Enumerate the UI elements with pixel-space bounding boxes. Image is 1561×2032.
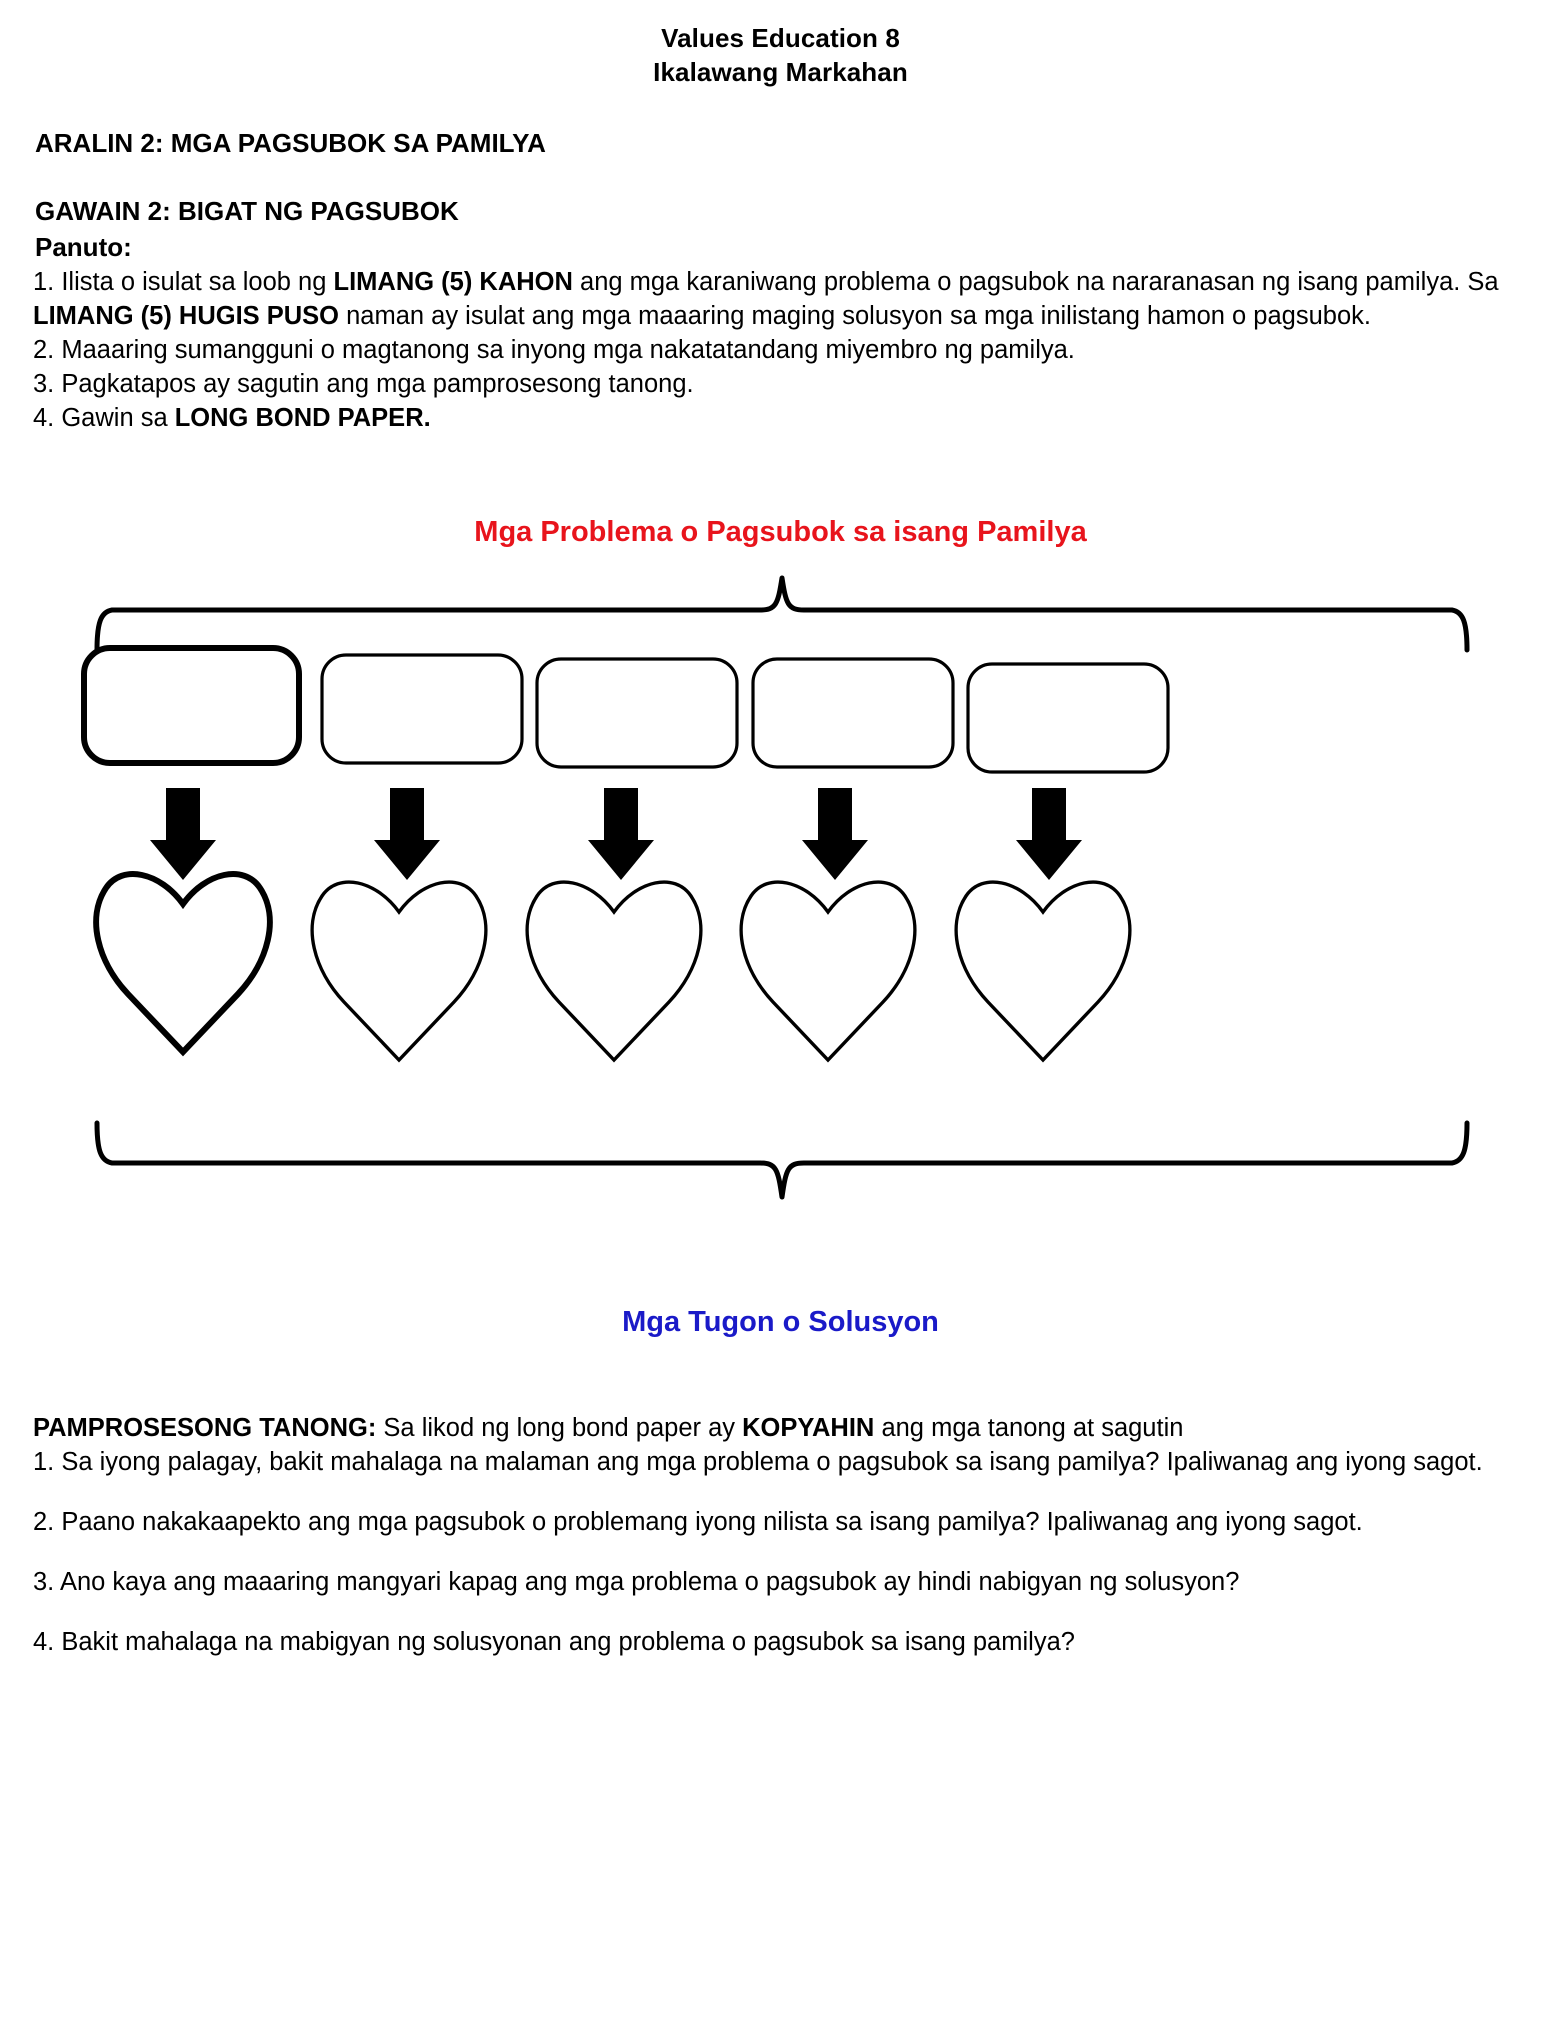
question-4: 4. Bakit mahalaga na mabigyan ng solusyo… (33, 1626, 1538, 1660)
instruction-1-part-a: 1. Ilista o isulat sa loob ng (33, 268, 334, 296)
top-brace (97, 578, 1467, 650)
instruction-item-2: 2. Maaaring sumangguni o magtanong sa in… (33, 334, 1533, 368)
processing-label-bold: PAMPROSESONG TANONG: (33, 1414, 376, 1442)
quarter-title: Ikalawang Markahan (0, 56, 1561, 90)
graphic-organizer: Mga Problema o Pagsubok sa isang Pamilya (0, 500, 1561, 1360)
instruction-1-part-b: ang mga karaniwang problema o pagsubok n… (573, 268, 1499, 296)
solution-hearts (96, 874, 1130, 1060)
processing-questions-label: PAMPROSESONG TANONG: Sa likod ng long bo… (33, 1412, 1538, 1446)
down-arrow-icon-2 (374, 788, 440, 880)
instruction-item-4: 4. Gawin sa LONG BOND PAPER. (33, 402, 1533, 436)
problem-box-5[interactable] (968, 664, 1168, 772)
problem-boxes (84, 648, 1168, 772)
solutions-heading: Mga Tugon o Solusyon (0, 1306, 1561, 1339)
down-arrow-icon-3 (588, 788, 654, 880)
processing-label-bold-kopyahin: KOPYAHIN (742, 1414, 874, 1442)
instruction-1-bold-puso: LIMANG (5) HUGIS PUSO (33, 302, 339, 330)
problems-heading: Mga Problema o Pagsubok sa isang Pamilya (0, 516, 1561, 549)
heart-shape-3[interactable] (527, 882, 701, 1060)
instruction-item-1: 1. Ilista o isulat sa loob ng LIMANG (5)… (33, 266, 1533, 334)
instruction-4-part-a: 4. Gawin sa (33, 404, 175, 432)
lesson-title: ARALIN 2: MGA PAGSUBOK SA PAMILYA (35, 128, 546, 159)
instruction-4-bold-bond-paper: LONG BOND PAPER. (175, 404, 431, 432)
heart-shape-5[interactable] (956, 882, 1130, 1060)
down-arrow-icon-4 (802, 788, 868, 880)
problem-box-3[interactable] (537, 659, 737, 767)
instruction-1-part-c: naman ay isulat ang mga maaaring maging … (339, 302, 1371, 330)
organizer-svg (0, 500, 1561, 1360)
processing-label-part-a: Sa likod ng long bond paper ay (376, 1414, 742, 1442)
question-spacer-2 (33, 1540, 1538, 1566)
heart-shape-4[interactable] (741, 882, 915, 1060)
processing-questions-block: PAMPROSESONG TANONG: Sa likod ng long bo… (33, 1412, 1538, 1660)
question-spacer-1 (33, 1480, 1538, 1506)
activity-title: GAWAIN 2: BIGAT NG PAGSUBOK (35, 196, 459, 227)
instruction-item-3: 3. Pagkatapos ay sagutin ang mga pampros… (33, 368, 1533, 402)
problem-box-1[interactable] (84, 648, 299, 763)
down-arrows (150, 788, 1082, 880)
down-arrow-icon-1 (150, 788, 216, 880)
question-2: 2. Paano nakakaapekto ang mga pagsubok o… (33, 1506, 1538, 1540)
problem-box-2[interactable] (322, 655, 522, 763)
worksheet-page: Values Education 8 Ikalawang Markahan AR… (0, 0, 1561, 2032)
down-arrow-icon-5 (1016, 788, 1082, 880)
heart-shape-1[interactable] (96, 874, 270, 1052)
heart-shape-2[interactable] (312, 882, 486, 1060)
document-header: Values Education 8 Ikalawang Markahan (0, 22, 1561, 90)
bottom-brace (97, 1123, 1467, 1197)
question-1: 1. Sa iyong palagay, bakit mahalaga na m… (33, 1446, 1538, 1480)
question-3: 3. Ano kaya ang maaaring mangyari kapag … (33, 1566, 1538, 1600)
processing-label-part-b: ang mga tanong at sagutin (874, 1414, 1183, 1442)
question-spacer-3 (33, 1600, 1538, 1626)
panuto-label: Panuto: (35, 232, 132, 263)
instructions-block: 1. Ilista o isulat sa loob ng LIMANG (5)… (33, 266, 1533, 436)
problem-box-4[interactable] (753, 659, 953, 767)
instruction-1-bold-kahon: LIMANG (5) KAHON (334, 268, 573, 296)
subject-title: Values Education 8 (0, 22, 1561, 56)
